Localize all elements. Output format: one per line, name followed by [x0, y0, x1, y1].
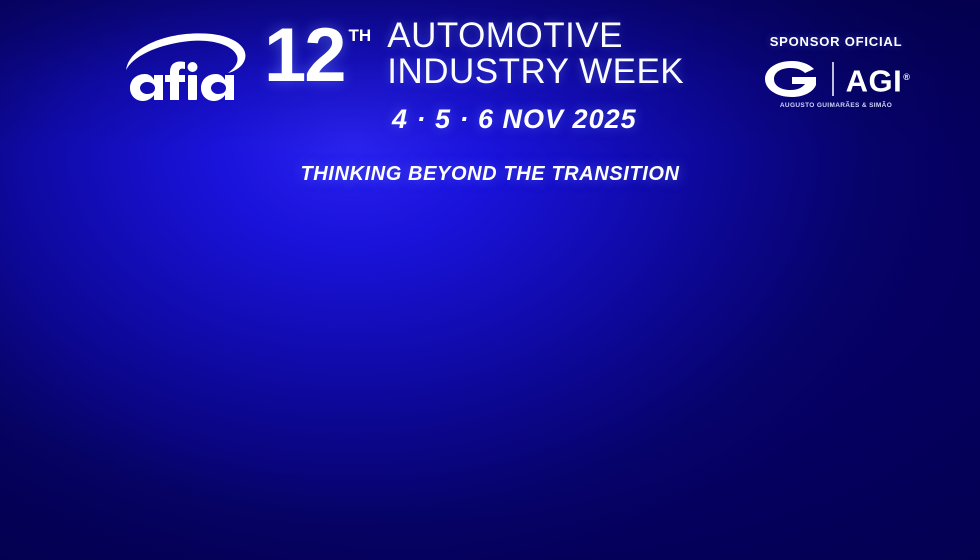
event-dates: 4 · 5 · 6 NOV 2025 — [392, 104, 724, 135]
sponsor-name: AGI® — [846, 61, 911, 97]
title-line-2: INDUSTRY WEEK — [387, 54, 684, 90]
title-line-1: AUTOMOTIVE — [387, 18, 684, 54]
sponsor-full-name: AUGUSTO GUIMARÃES & SIMÃO — [736, 102, 936, 109]
registered-mark: ® — [903, 72, 910, 82]
sponsor-label: SPONSOR OFICIAL — [736, 34, 936, 49]
agi-g-monogram-icon — [762, 59, 820, 99]
sponsor-divider — [832, 62, 834, 96]
edition-ordinal: TH — [349, 26, 372, 46]
tagline: THINKING BEYOND THE TRANSITION — [0, 163, 980, 186]
edition-number: 12 — [264, 20, 345, 92]
event-banner: 12 TH AUTOMOTIVE INDUSTRY WEEK 4 · 5 · 6… — [0, 0, 980, 560]
sponsor-logo[interactable]: AGI® — [736, 59, 936, 99]
afia-logo[interactable] — [112, 26, 252, 106]
banner-header: 12 TH AUTOMOTIVE INDUSTRY WEEK 4 · 5 · 6… — [0, 0, 980, 230]
title-lockup: 12 TH AUTOMOTIVE INDUSTRY WEEK 4 · 5 · 6… — [264, 20, 724, 135]
sponsor-block: SPONSOR OFICIAL AGI® AUGUSTO GUIMARÃES &… — [736, 34, 936, 109]
sponsor-name-text: AGI — [846, 63, 903, 98]
